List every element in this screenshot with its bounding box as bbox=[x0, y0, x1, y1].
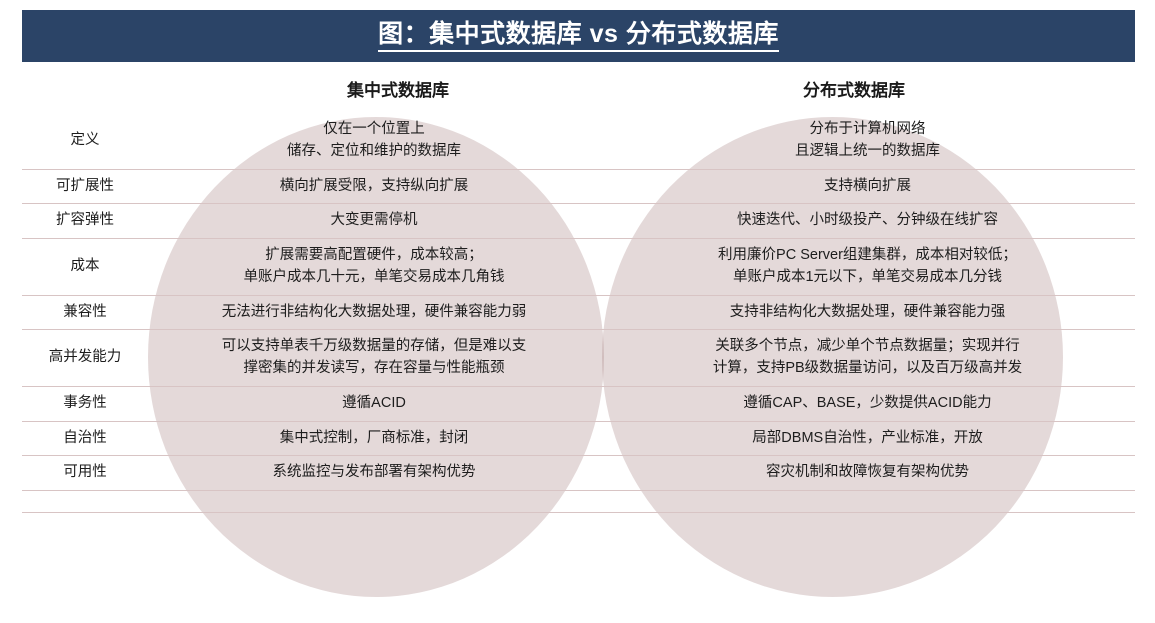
cell-distributed-2: 快速迭代、小时级投产、分钟级在线扩容 bbox=[600, 204, 1135, 239]
cell-distributed-0: 分布于计算机网络且逻辑上统一的数据库 bbox=[600, 113, 1135, 169]
row-label-5: 高并发能力 bbox=[22, 330, 148, 387]
row-label-1: 可扩展性 bbox=[22, 169, 148, 204]
column-header-distributed: 分布式数据库 bbox=[682, 76, 1026, 101]
title-bar: 图：集中式数据库 vs 分布式数据库 bbox=[22, 10, 1135, 62]
cell-distributed-6: 遵循CAP、BASE，少数提供ACID能力 bbox=[600, 386, 1135, 421]
row-label-8: 可用性 bbox=[22, 456, 148, 491]
row-label-2: 扩容弹性 bbox=[22, 204, 148, 239]
table-row: 兼容性无法进行非结构化大数据处理，硬件兼容能力弱支持非结构化大数据处理，硬件兼容… bbox=[22, 295, 1135, 330]
row-label-7: 自治性 bbox=[22, 421, 148, 456]
table-row: 定义仅在一个位置上储存、定位和维护的数据库分布于计算机网络且逻辑上统一的数据库 bbox=[22, 113, 1135, 169]
cell-centralized-7: 集中式控制，厂商标准，封闭 bbox=[148, 421, 600, 456]
table-row: 扩容弹性大变更需停机快速迭代、小时级投产、分钟级在线扩容 bbox=[22, 204, 1135, 239]
cell-distributed-1: 支持横向扩展 bbox=[600, 169, 1135, 204]
table-row: 可扩展性横向扩展受限，支持纵向扩展支持横向扩展 bbox=[22, 169, 1135, 204]
row-label-3: 成本 bbox=[22, 239, 148, 296]
table-row: 高并发能力可以支持单表千万级数据量的存储，但是难以支撑密集的并发读写，存在容量与… bbox=[22, 330, 1135, 387]
cell-centralized-0: 仅在一个位置上储存、定位和维护的数据库 bbox=[148, 113, 600, 169]
row-label-0: 定义 bbox=[22, 113, 148, 169]
column-header-row: 集中式数据库 分布式数据库 bbox=[22, 76, 1135, 110]
row-label-6: 事务性 bbox=[22, 386, 148, 421]
comparison-table: 定义仅在一个位置上储存、定位和维护的数据库分布于计算机网络且逻辑上统一的数据库可… bbox=[22, 113, 1135, 513]
cell-centralized-2: 大变更需停机 bbox=[148, 204, 600, 239]
cell-centralized-6: 遵循ACID bbox=[148, 386, 600, 421]
table-row: 自治性集中式控制，厂商标准，封闭局部DBMS自治性，产业标准，开放 bbox=[22, 421, 1135, 456]
table-footer-rule bbox=[22, 491, 1135, 513]
cell-centralized-1: 横向扩展受限，支持纵向扩展 bbox=[148, 169, 600, 204]
cell-distributed-7: 局部DBMS自治性，产业标准，开放 bbox=[600, 421, 1135, 456]
column-header-centralized: 集中式数据库 bbox=[226, 76, 570, 101]
slide-canvas: 图：集中式数据库 vs 分布式数据库 集中式数据库 分布式数据库 定义仅在一个位… bbox=[0, 0, 1155, 623]
table-row: 可用性系统监控与发布部署有架构优势容灾机制和故障恢复有架构优势 bbox=[22, 456, 1135, 491]
cell-distributed-5: 关联多个节点，减少单个节点数据量；实现并行计算，支持PB级数据量访问，以及百万级… bbox=[600, 330, 1135, 387]
page-title: 图：集中式数据库 vs 分布式数据库 bbox=[378, 20, 779, 53]
cell-centralized-5: 可以支持单表千万级数据量的存储，但是难以支撑密集的并发读写，存在容量与性能瓶颈 bbox=[148, 330, 600, 387]
table-footer-cell bbox=[600, 491, 1135, 513]
table-body: 定义仅在一个位置上储存、定位和维护的数据库分布于计算机网络且逻辑上统一的数据库可… bbox=[22, 113, 1135, 513]
cell-centralized-3: 扩展需要高配置硬件，成本较高；单账户成本几十元，单笔交易成本几角钱 bbox=[148, 239, 600, 296]
cell-centralized-8: 系统监控与发布部署有架构优势 bbox=[148, 456, 600, 491]
row-label-4: 兼容性 bbox=[22, 295, 148, 330]
cell-centralized-4: 无法进行非结构化大数据处理，硬件兼容能力弱 bbox=[148, 295, 600, 330]
table-row: 成本扩展需要高配置硬件，成本较高；单账户成本几十元，单笔交易成本几角钱利用廉价P… bbox=[22, 239, 1135, 296]
table-footer-cell bbox=[22, 491, 148, 513]
table-row: 事务性遵循ACID遵循CAP、BASE，少数提供ACID能力 bbox=[22, 386, 1135, 421]
cell-distributed-4: 支持非结构化大数据处理，硬件兼容能力强 bbox=[600, 295, 1135, 330]
cell-distributed-8: 容灾机制和故障恢复有架构优势 bbox=[600, 456, 1135, 491]
cell-distributed-3: 利用廉价PC Server组建集群，成本相对较低；单账户成本1元以下，单笔交易成… bbox=[600, 239, 1135, 296]
table-footer-cell bbox=[148, 491, 600, 513]
